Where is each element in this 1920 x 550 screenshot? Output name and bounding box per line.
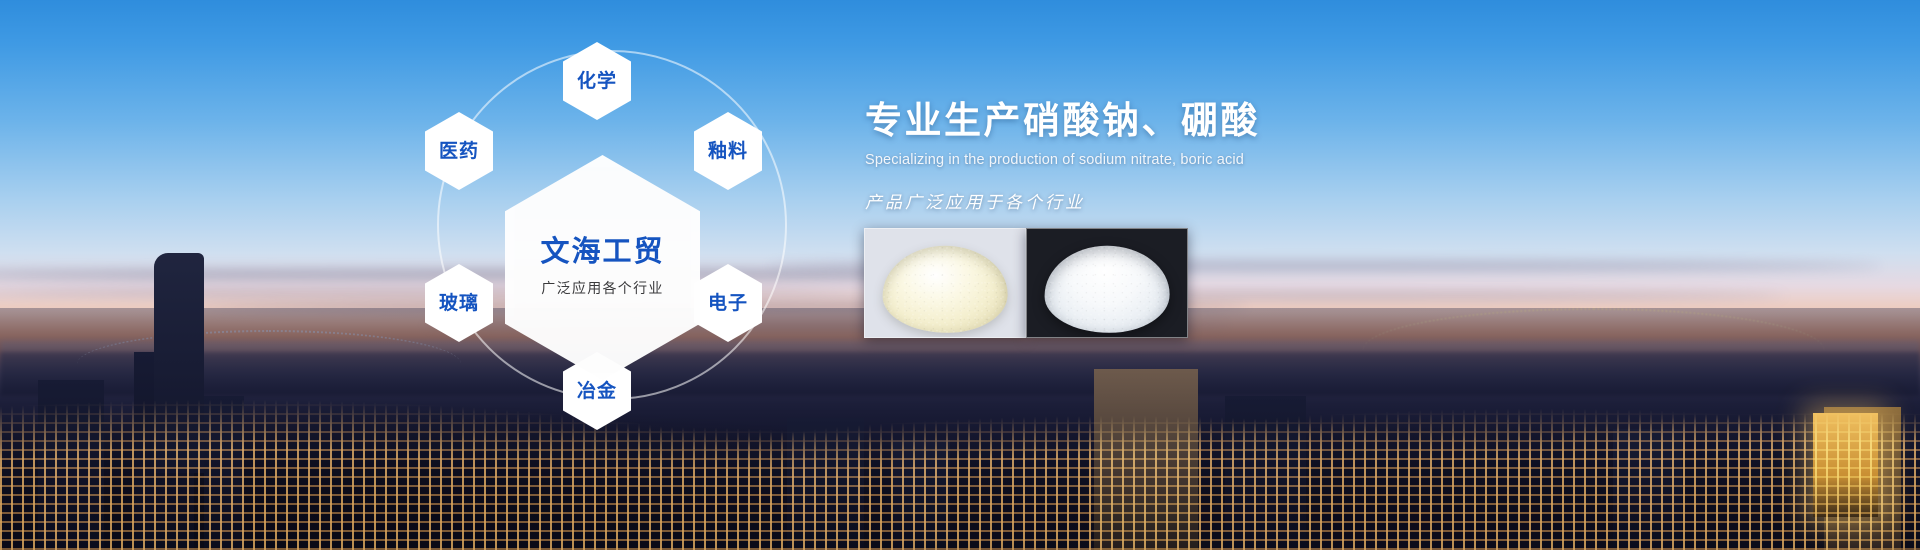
tagline-text: 产品广泛应用于各个行业 — [865, 188, 1515, 213]
hexagon-label-glass: 玻璃 — [439, 294, 479, 313]
hexagon-label-electronics: 电子 — [708, 294, 748, 313]
company-name: 文海工贸 — [540, 237, 664, 269]
industry-hexagon-diagram: 化学 釉料 电子 冶金 玻璃 医药 文海工贸 广泛应用各个行业 — [0, 0, 900, 550]
hexagon-label-metallurgy: 冶金 — [577, 382, 617, 401]
product-photo-sodium-nitrate — [864, 228, 1026, 338]
hexagon-label-glaze: 釉料 — [708, 142, 748, 161]
product-photo-boric-acid — [1026, 228, 1188, 338]
powder-grain-texture — [883, 246, 1008, 332]
headline-text: 专业生产硝酸钠、硼酸 — [865, 100, 1515, 143]
headline-copy-block: 专业生产硝酸钠、硼酸 Specializing in the productio… — [865, 100, 1515, 213]
powder-grain-texture — [1045, 246, 1170, 332]
hexagon-label-medicine: 医药 — [439, 142, 479, 161]
promotional-banner: 化学 釉料 电子 冶金 玻璃 医药 文海工贸 广泛应用各个行业 专业生产硝酸钠、… — [0, 0, 1920, 550]
headline-english-subtitle: Specializing in the production of sodium… — [865, 152, 1515, 168]
hexagon-label-chemistry: 化学 — [577, 72, 617, 91]
powder-pile-cream — [883, 246, 1008, 332]
powder-pile-white — [1045, 246, 1170, 332]
company-slogan: 广泛应用各个行业 — [541, 278, 663, 298]
